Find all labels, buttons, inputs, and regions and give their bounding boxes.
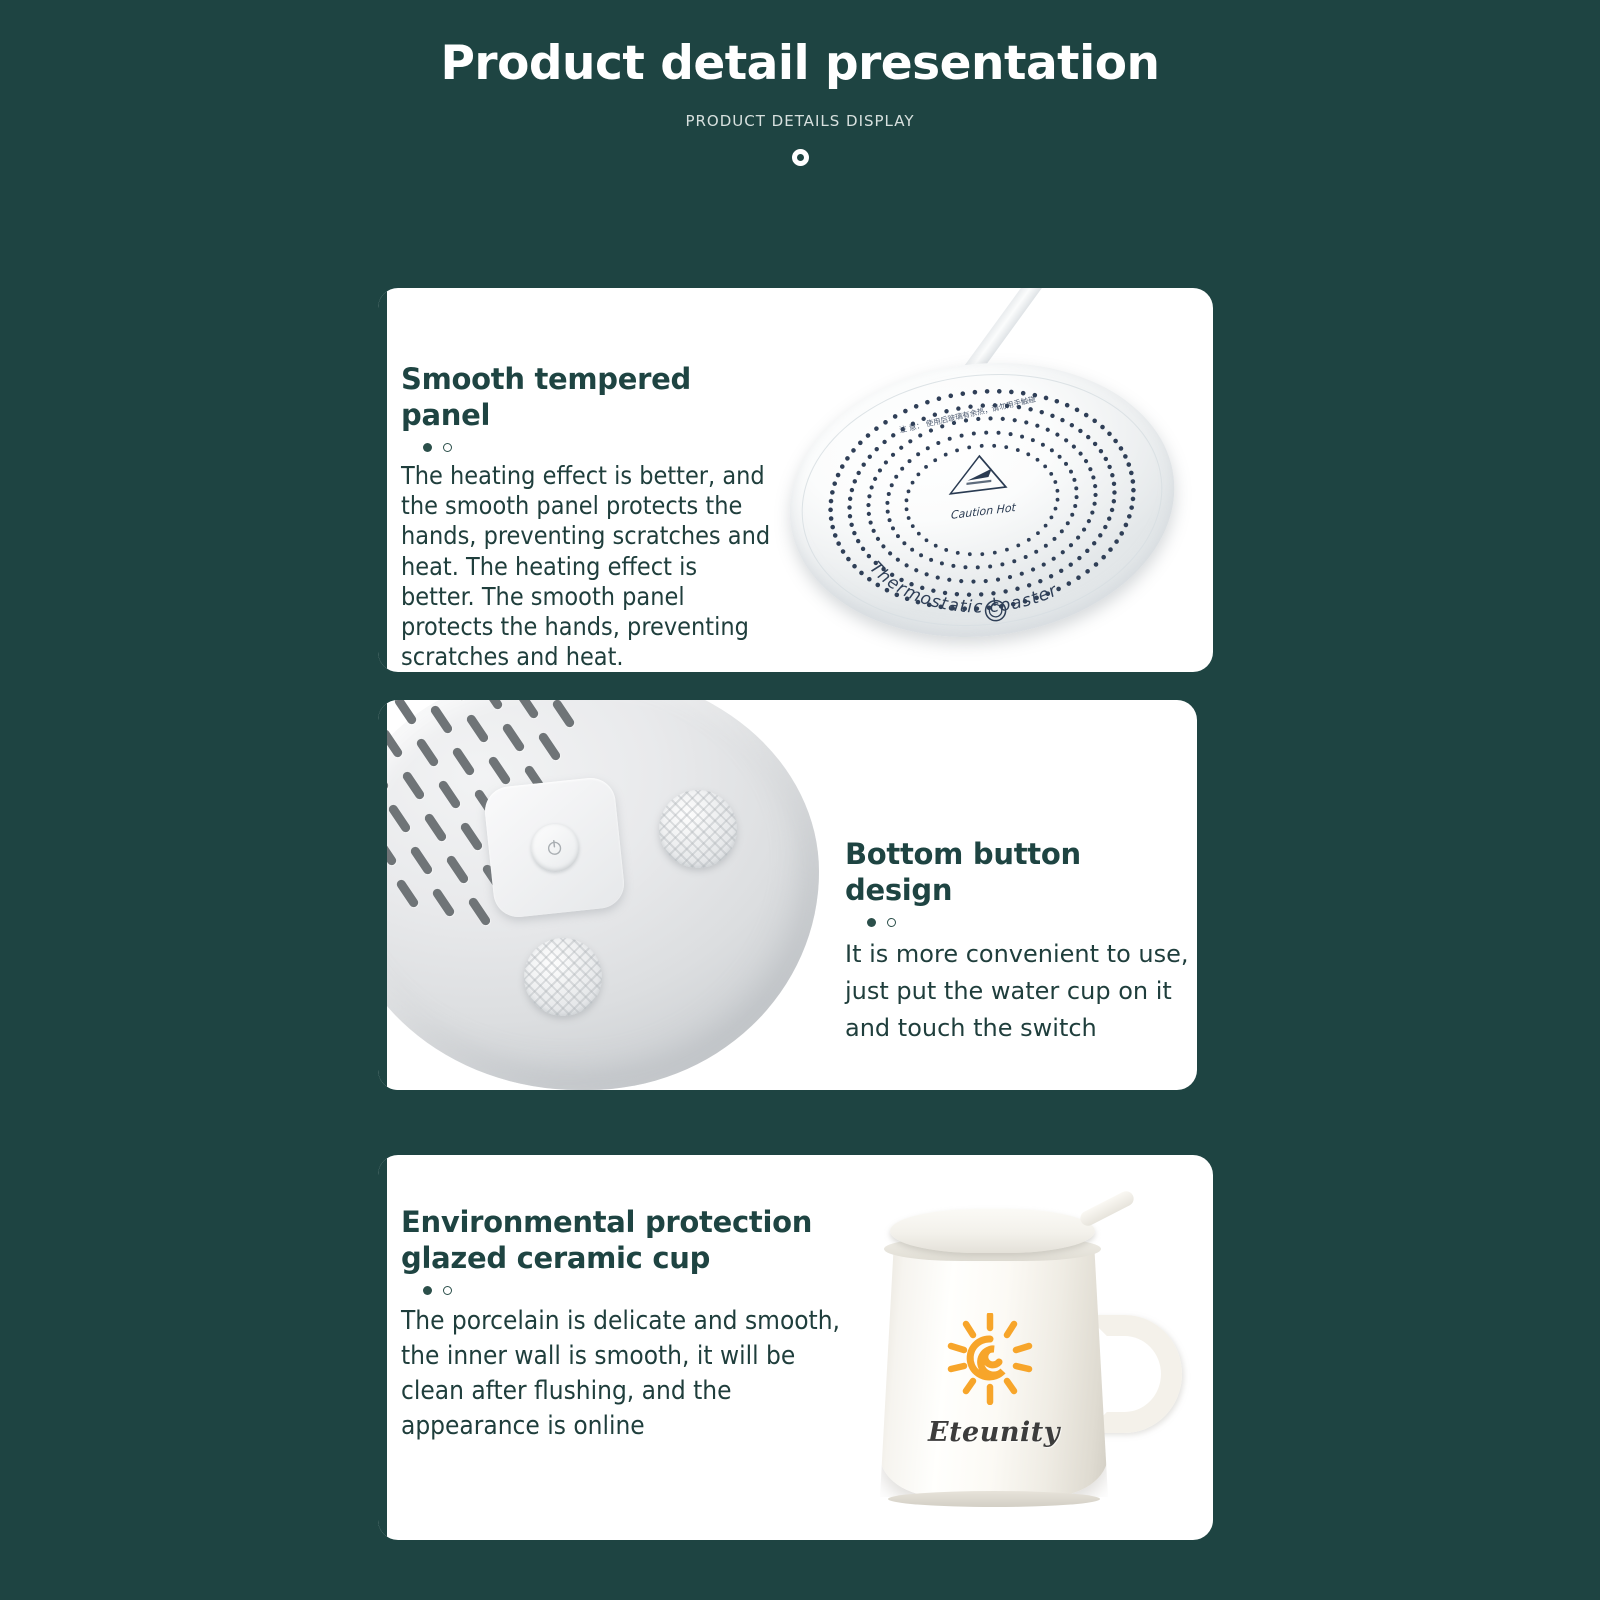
- cup-brand-label: Eteunity: [928, 1417, 1060, 1448]
- power-button[interactable]: [528, 821, 581, 874]
- bullet-decoration: [423, 1286, 861, 1295]
- card-accent-bar: [378, 1155, 387, 1540]
- card-heading: Environmental protection glazed ceramic …: [401, 1205, 861, 1277]
- card-text-block: Smooth tempered panel The heating effect…: [401, 362, 771, 672]
- rubber-foot: [659, 790, 737, 868]
- caution-hot-triangle-icon: [947, 449, 1010, 497]
- cup-spoon: [1078, 1189, 1136, 1229]
- feature-card-bottom-button-design: Bottom button design It is more convenie…: [378, 700, 1197, 1090]
- filled-dot-icon: [423, 1286, 432, 1295]
- page-subtitle: PRODUCT DETAILS DISPLAY: [0, 112, 1600, 130]
- ring-indicator-icon: [792, 149, 809, 166]
- sun-logo-icon: [944, 1313, 1036, 1405]
- cup-base: [888, 1491, 1100, 1507]
- thermostatic-coaster-device: 注 意： 使用后玻璃有余热，请勿用手触碰 Caution Hot Thermos…: [774, 341, 1190, 658]
- power-button-plate: [483, 776, 627, 920]
- page-header: Product detail presentation PRODUCT DETA…: [0, 0, 1600, 166]
- ceramic-cup-product: Eteunity: [840, 1185, 1200, 1535]
- page-title: Product detail presentation: [0, 38, 1600, 90]
- bullet-decoration: [867, 918, 1190, 927]
- card-accent-bar: [378, 288, 387, 672]
- card-body-text: It is more convenient to use, just put t…: [845, 936, 1190, 1047]
- coaster-underside: [387, 700, 819, 1090]
- feature-card-ceramic-cup: Environmental protection glazed ceramic …: [378, 1155, 1213, 1540]
- card-text-block: Environmental protection glazed ceramic …: [401, 1205, 861, 1444]
- card-body-text: The heating effect is better, and the sm…: [401, 461, 771, 672]
- card-body-text: The porcelain is delicate and smooth, th…: [401, 1304, 861, 1444]
- hollow-circle-icon: [443, 1286, 452, 1295]
- feature-card-smooth-tempered-panel: Smooth tempered panel The heating effect…: [378, 288, 1213, 672]
- ceramic-cup-image: Eteunity: [818, 1155, 1213, 1540]
- card-heading: Bottom button design: [845, 837, 1190, 909]
- cup-lid: [890, 1209, 1095, 1253]
- hollow-circle-icon: [887, 918, 896, 927]
- card-text-block: Bottom button design It is more convenie…: [845, 837, 1190, 1047]
- bullet-decoration: [423, 443, 771, 452]
- coaster-top-view-image: 注 意： 使用后玻璃有余热，请勿用手触碰 Caution Hot Thermos…: [723, 288, 1213, 672]
- filled-dot-icon: [867, 918, 876, 927]
- hollow-circle-icon: [443, 443, 452, 452]
- power-button-icon[interactable]: [979, 594, 1011, 626]
- rubber-foot: [524, 938, 602, 1016]
- card-accent-bar: [378, 700, 387, 1090]
- card-heading: Smooth tempered panel: [401, 362, 771, 434]
- filled-dot-icon: [423, 443, 432, 452]
- power-symbol-icon: [544, 837, 565, 858]
- coaster-bottom-view-image: [387, 700, 847, 1090]
